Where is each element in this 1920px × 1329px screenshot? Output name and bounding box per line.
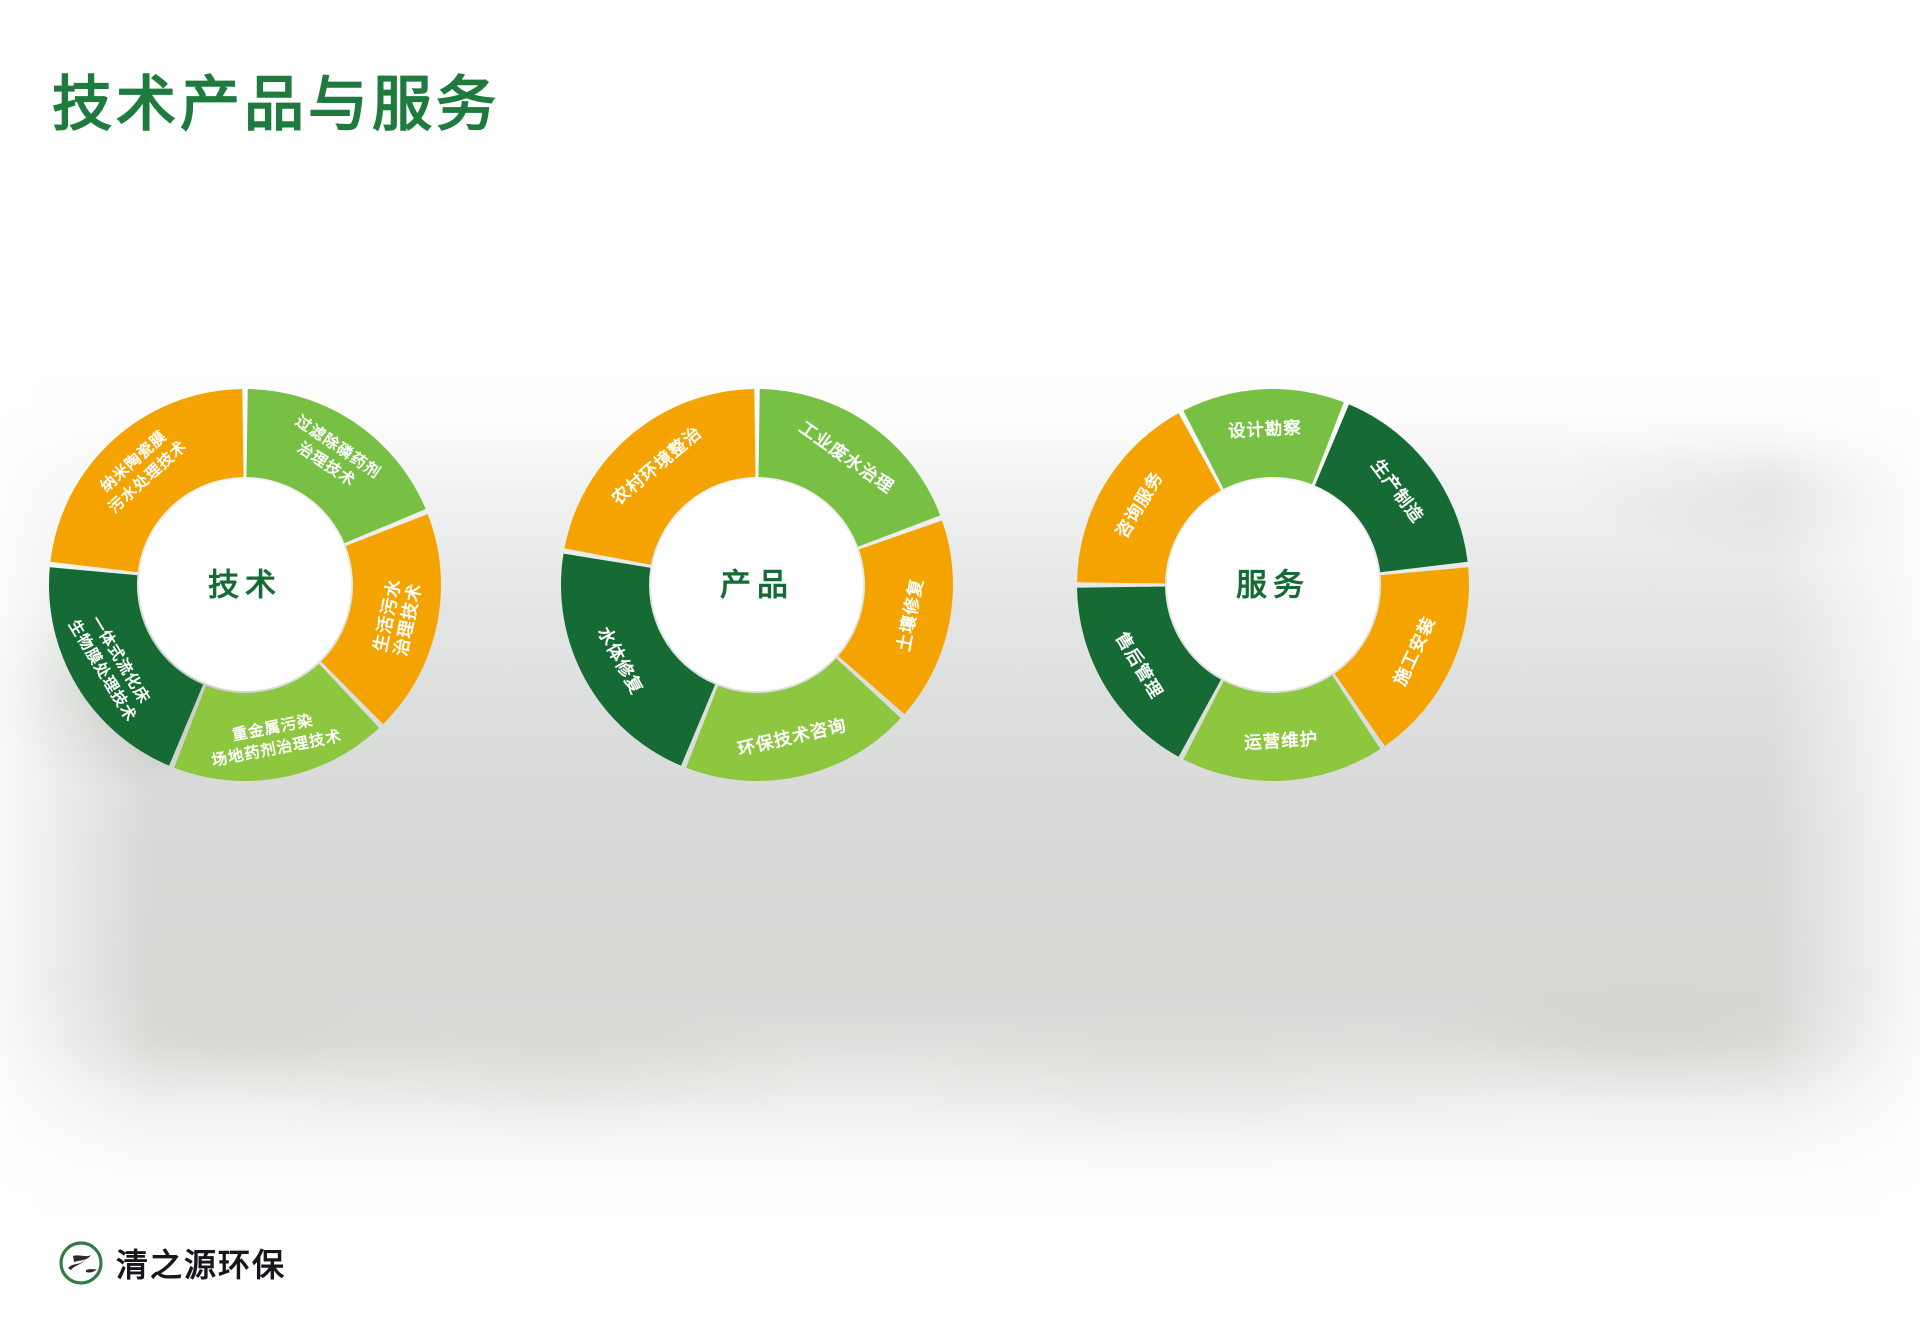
company-name: 清之源环保: [116, 1240, 286, 1286]
circular-leaf-mark-icon: [58, 1240, 104, 1286]
donut-segment-label: 运营维护: [1244, 729, 1319, 753]
donut-wheel-tech: 过滤除磷药剂治理技术生活污水治理技术重金属污染场地药剂治理技术一体式流化床生物膜…: [45, 385, 445, 785]
donut-segment-label: 设计勘察: [1227, 417, 1302, 441]
donut-hub-label-service: 服务: [1236, 568, 1310, 603]
donut-hub-label-tech: 技术: [208, 568, 282, 603]
donut-wheel-product: 工业废水治理土壤修复环保技术咨询水体修复农村环境整治产品: [557, 385, 957, 785]
donut-wheel-service: 生产制造施工安装运营维护售后管理咨询服务设计勘察服务: [1073, 385, 1473, 785]
donut-hub-label-product: 产品: [720, 568, 794, 603]
background-right-fade: [1770, 355, 1920, 1235]
footer-logo: 清之源环保: [58, 1240, 286, 1286]
page-title: 技术产品与服务: [52, 72, 500, 138]
